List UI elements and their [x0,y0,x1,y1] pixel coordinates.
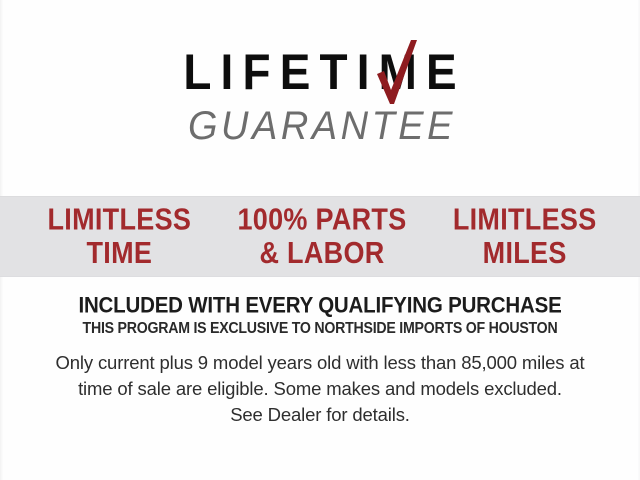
logo-primary-text: LIFETIME [174,47,466,97]
benefit-column-limitless-miles: LIMITLESS MILES [423,203,626,271]
benefit-line-1: LIMITLESS [423,203,626,237]
benefit-line-2: & LABOR [221,237,424,271]
benefit-column-parts-labor: 100% PARTS & LABOR [221,203,424,271]
promo-headline: INCLUDED WITH EVERY QUALIFYING PURCHASE [0,293,640,319]
logo-secondary-text: GUARANTEE [177,106,463,146]
lifetime-guarantee-logo: LIFETIME GUARANTEE [0,52,640,144]
lifetime-guarantee-advertisement: LIFETIME GUARANTEE LIMITLESS TIME 100% P… [0,0,640,480]
benefit-line-1: 100% PARTS [221,203,424,237]
disclaimer-line-3: See Dealer for details. [28,402,612,428]
benefit-line-2: TIME [18,237,221,271]
disclaimer-line-1: Only current plus 9 model years old with… [28,350,612,376]
benefits-band: LIMITLESS TIME 100% PARTS & LABOR LIMITL… [0,196,640,277]
logo-wordmark: LIFETIME GUARANTEE [177,52,463,144]
disclaimer-text: Only current plus 9 model years old with… [28,350,612,428]
benefit-line-1: LIMITLESS [18,203,221,237]
promo-subhead: THIS PROGRAM IS EXCLUSIVE TO NORTHSIDE I… [10,321,631,338]
benefit-line-2: MILES [423,237,626,271]
disclaimer-line-2: time of sale are eligible. Some makes an… [28,376,612,402]
benefit-column-limitless-time: LIMITLESS TIME [18,203,221,271]
